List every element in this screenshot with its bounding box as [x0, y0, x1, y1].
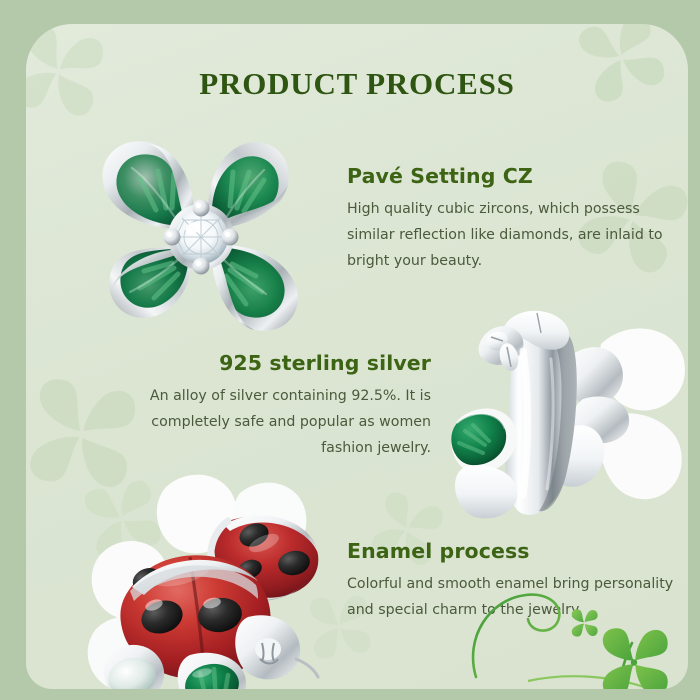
product-process-poster: PRODUCT PROCESS [0, 0, 700, 700]
section-body-925-sterling-silver: An alloy of silver containing 92.5%. It … [121, 384, 431, 462]
section-pave-setting-cz: Pavé Setting CZ High quality cubic zirco… [347, 164, 682, 275]
content-panel: PRODUCT PROCESS [26, 24, 688, 689]
section-heading-pave-setting-cz: Pavé Setting CZ [347, 164, 682, 188]
section-925-sterling-silver: 925 sterling silver An alloy of silver c… [121, 351, 431, 462]
product-photo-pave-setting-cz [74, 116, 329, 356]
product-photo-enamel-process [78, 469, 343, 689]
section-heading-925-sterling-silver: 925 sterling silver [121, 351, 431, 375]
section-body-pave-setting-cz: High quality cubic zircons, which posses… [347, 197, 682, 275]
clover-vine-corner-ornament [468, 559, 688, 689]
page-title: PRODUCT PROCESS [26, 66, 688, 102]
product-photo-925-sterling-silver [451, 299, 688, 529]
